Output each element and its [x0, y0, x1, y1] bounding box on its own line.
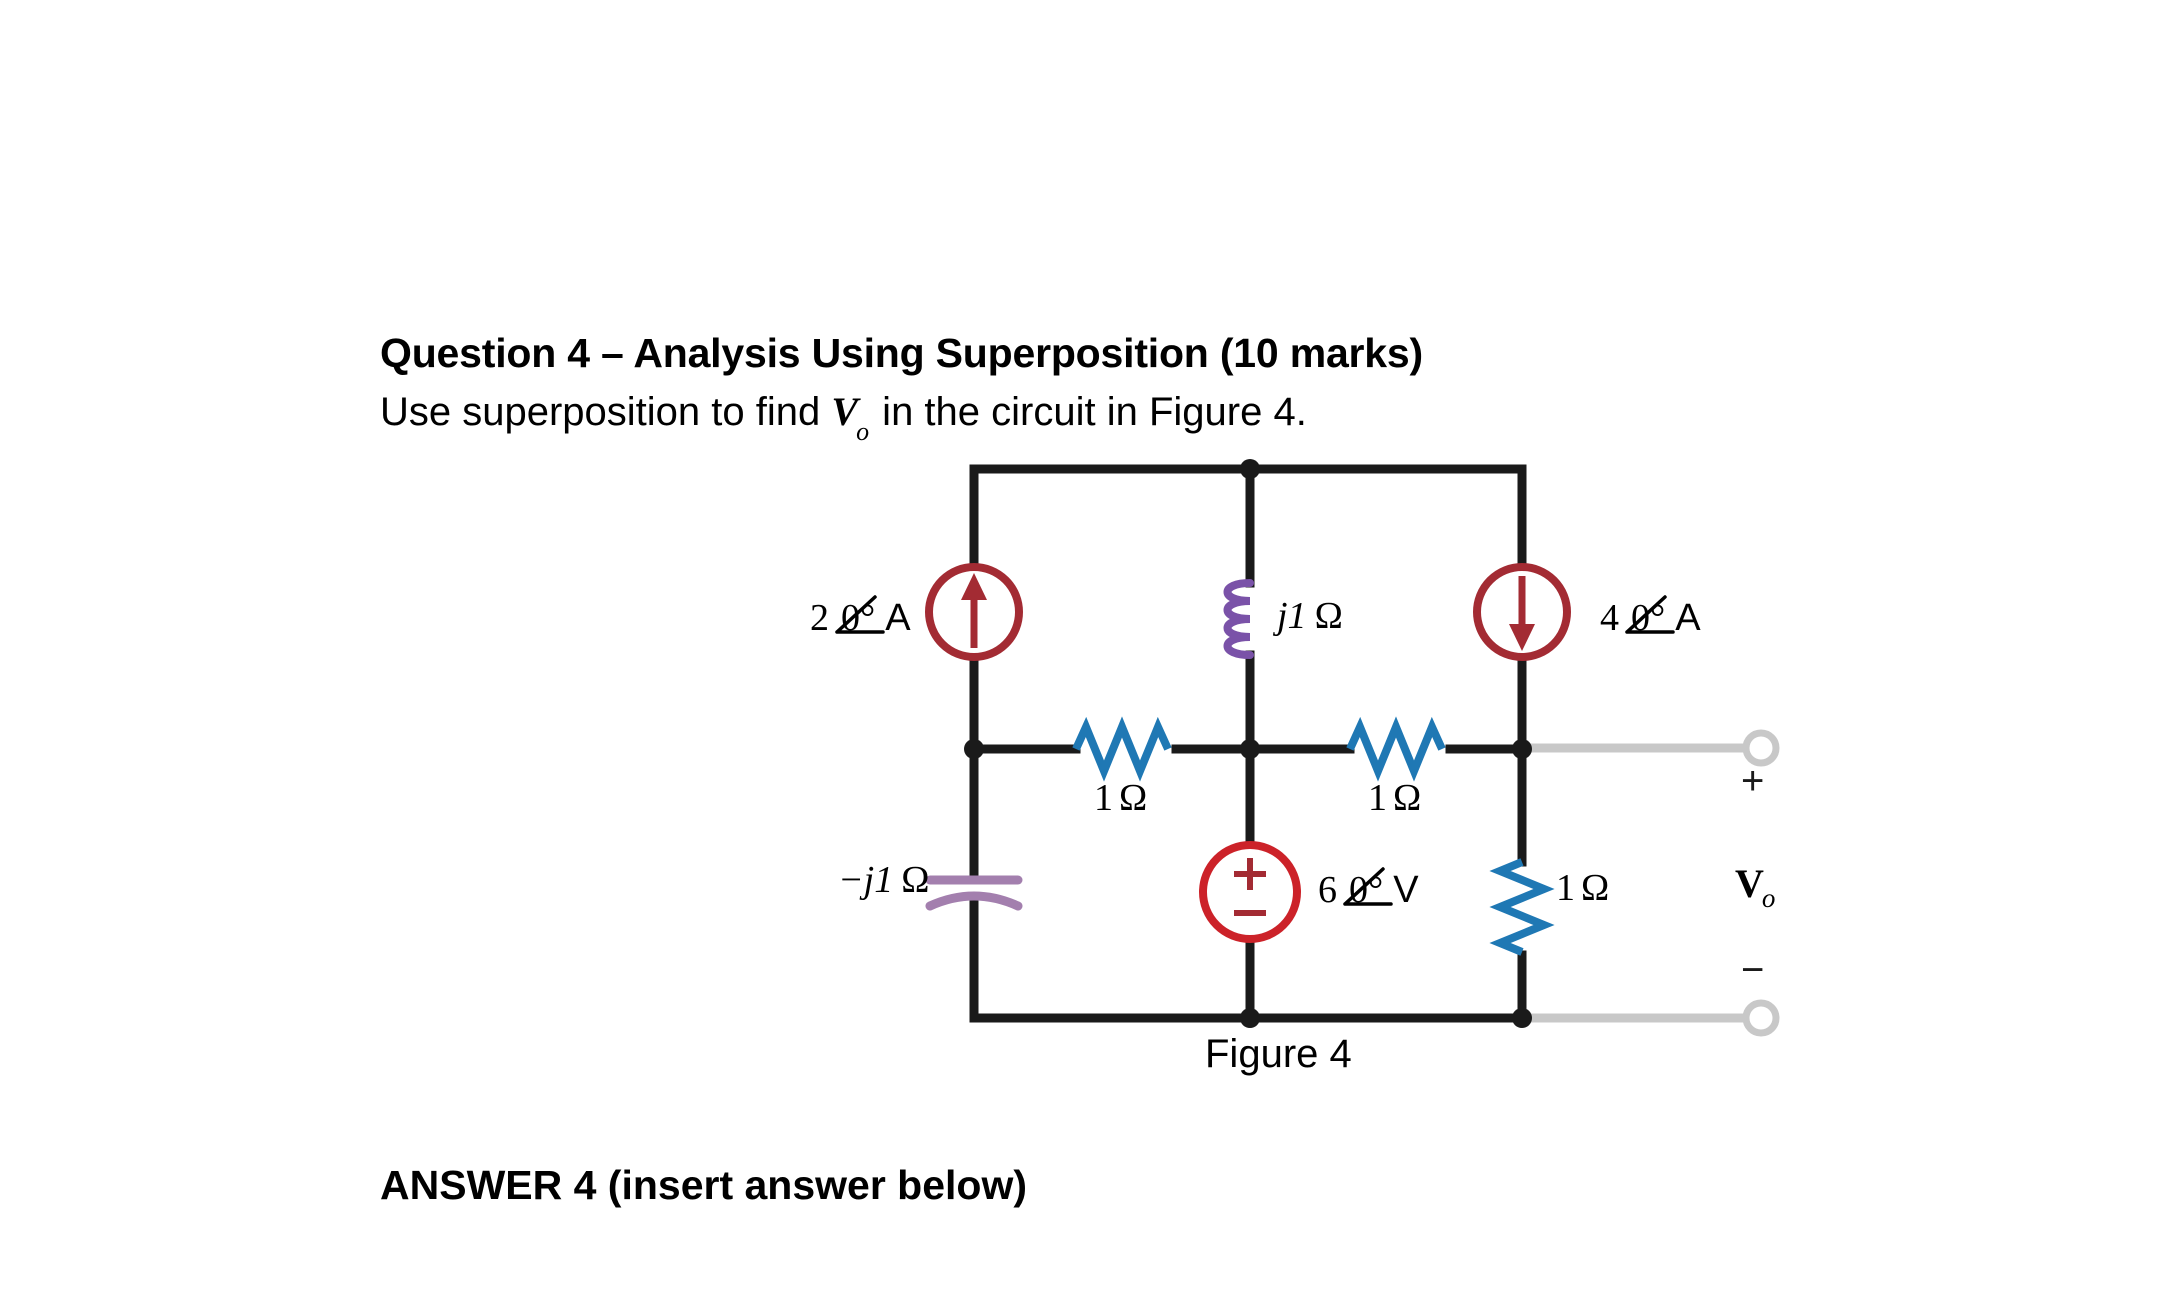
- output-terminal-negative[interactable]: [1746, 1003, 1776, 1033]
- current-source-icon-right[interactable]: [1477, 567, 1567, 657]
- current-source-right-unit: A: [1675, 597, 1700, 639]
- resistor-top-left-label: 1Ω: [1094, 776, 1147, 820]
- circuit-diagram: [0, 0, 2182, 1315]
- node-dot-mid-right: [1512, 739, 1532, 759]
- resistor-icon-right-vertical[interactable]: [1500, 862, 1544, 952]
- node-dot-mid-middle: [1240, 739, 1260, 759]
- current-source-right-angle: 0°: [1631, 597, 1665, 639]
- output-voltage-label: Vo: [1735, 860, 1777, 907]
- voltage-source-angle: 0°: [1349, 869, 1383, 911]
- answer-heading: ANSWER 4 (insert answer below): [380, 1162, 1027, 1209]
- capacitor-unit: Ω: [901, 859, 929, 901]
- current-source-left-label: 20°A: [810, 594, 911, 640]
- figure-caption: Figure 4: [1205, 1032, 1352, 1077]
- resistor-right-vertical-value: 1: [1556, 867, 1575, 909]
- resistor-top-right-label: 1Ω: [1368, 776, 1421, 820]
- page-root: Question 4 – Analysis Using Superpositio…: [0, 0, 2182, 1315]
- resistor-right-vertical-label: 1Ω: [1556, 866, 1609, 910]
- current-source-right-label: 40°A: [1600, 594, 1701, 640]
- output-voltage-symbol: V: [1735, 861, 1764, 906]
- inductor-value: j1: [1277, 595, 1307, 637]
- current-source-icon-left[interactable]: [929, 567, 1019, 657]
- resistor-top-right-unit: Ω: [1393, 777, 1421, 819]
- current-source-right-value: 4: [1600, 597, 1619, 639]
- voltage-source-icon[interactable]: [1203, 845, 1297, 939]
- inductor-icon[interactable]: [1228, 583, 1251, 655]
- output-minus-sign: −: [1741, 948, 1764, 993]
- resistor-icon-top-right[interactable]: [1350, 727, 1442, 771]
- voltage-source-unit: V: [1393, 869, 1418, 911]
- capacitor-value: −j1: [838, 859, 893, 901]
- node-dot-bottom-middle: [1240, 1008, 1260, 1028]
- resistor-top-left-unit: Ω: [1119, 777, 1147, 819]
- node-dot-top-middle: [1240, 459, 1260, 479]
- resistor-top-left-value: 1: [1094, 777, 1113, 819]
- node-dot-mid-left: [964, 739, 984, 759]
- capacitor-label: −j1Ω: [838, 858, 929, 902]
- current-source-left-angle: 0°: [841, 597, 875, 639]
- current-source-left-unit: A: [885, 597, 910, 639]
- resistor-right-vertical-unit: Ω: [1581, 867, 1609, 909]
- inductor-unit: Ω: [1315, 595, 1343, 637]
- node-dot-bottom-right: [1512, 1008, 1532, 1028]
- voltage-source-value: 6: [1318, 869, 1337, 911]
- resistor-top-right-value: 1: [1368, 777, 1387, 819]
- output-voltage-subscript: o: [1762, 883, 1776, 913]
- voltage-source-label: 60°V: [1318, 866, 1419, 912]
- output-plus-sign: +: [1741, 759, 1764, 804]
- resistor-icon-top-left[interactable]: [1076, 727, 1168, 771]
- inductor-label: j1Ω: [1277, 594, 1343, 638]
- current-source-left-value: 2: [810, 597, 829, 639]
